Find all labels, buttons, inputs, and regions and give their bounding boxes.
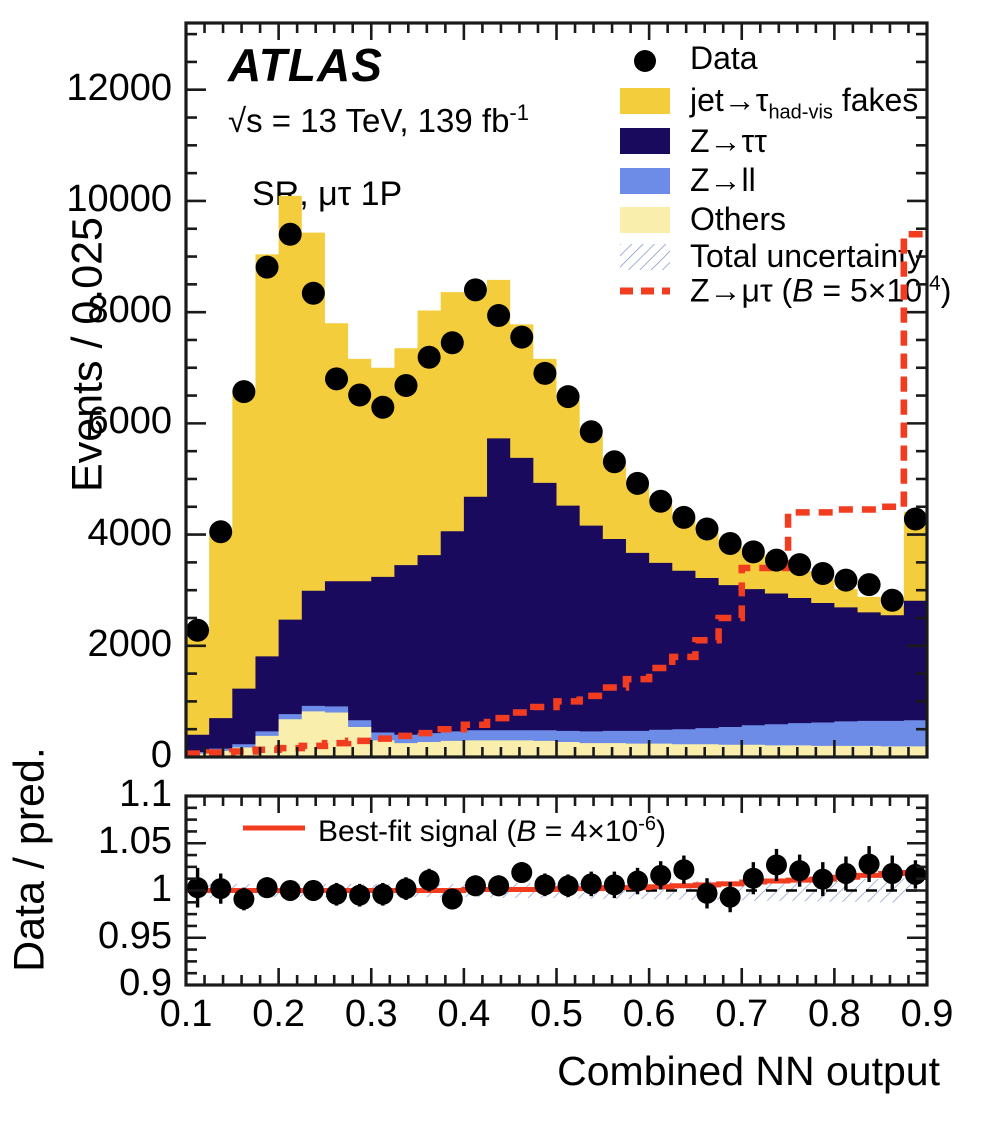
main-y-tick-label-10000: 10000 [0,178,172,221]
ratio-y-tick-label-0-9: 0.9 [0,962,172,1005]
ratio-y-tick-label-1-1: 1.1 [0,773,172,816]
x-tick-label-0-3: 0.3 [326,993,416,1036]
ratio-data-points [187,846,926,912]
main-y-tick-label-2000: 2000 [0,623,172,666]
x-tick-label-0-5: 0.5 [512,993,602,1036]
x-tick-label-0-4: 0.4 [419,993,509,1036]
ratio-y-tick-label-1: 1 [0,868,172,911]
main-y-tick-label-8000: 8000 [0,289,172,332]
main-y-tick-label-12000: 12000 [0,67,172,110]
ratio-y-tick-label-1-05: 1.05 [0,820,172,863]
figure-root: Events / 0.025 Data / pred. Combined NN … [0,0,988,1120]
x-tick-label-0-2: 0.2 [234,993,324,1036]
main-y-tick-label-0: 0 [0,734,172,777]
x-tick-label-0-8: 0.8 [789,993,879,1036]
stacked-histogram [186,196,927,757]
x-tick-label-0-7: 0.7 [697,993,787,1036]
main-y-tick-label-6000: 6000 [0,400,172,443]
x-tick-label-0-6: 0.6 [604,993,694,1036]
x-tick-label-0-9: 0.9 [882,993,972,1036]
main-y-tick-label-4000: 4000 [0,512,172,555]
ratio-y-tick-label-0-95: 0.95 [0,915,172,958]
